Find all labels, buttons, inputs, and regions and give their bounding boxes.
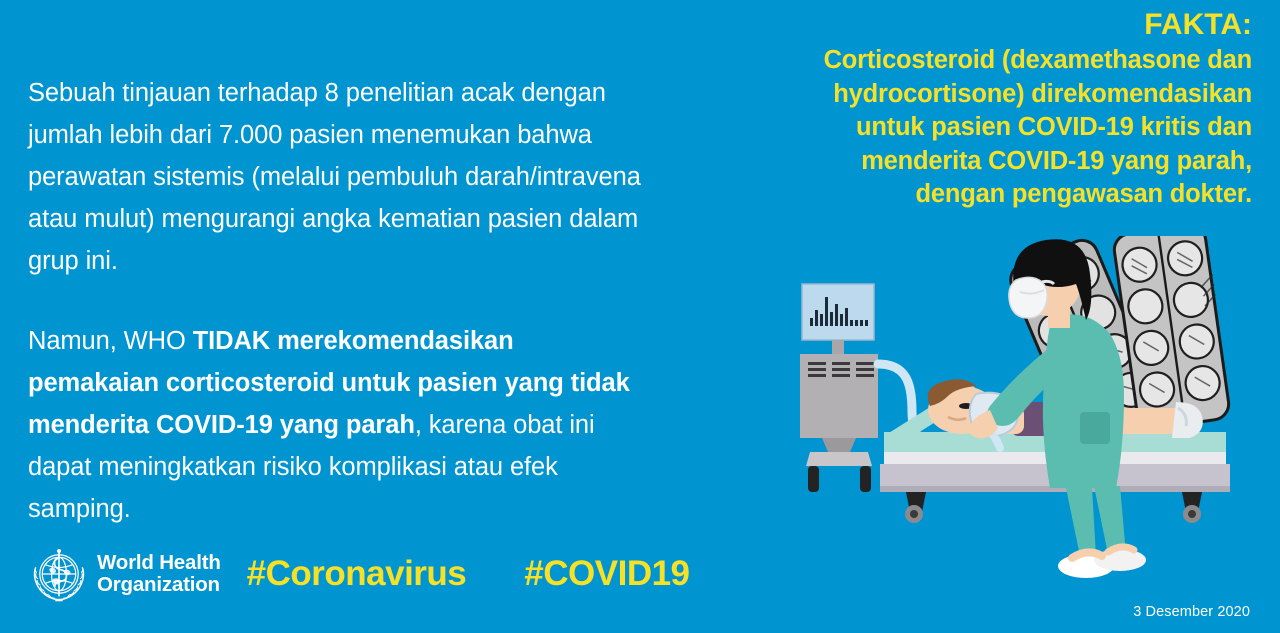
bed-castor-wheels bbox=[905, 492, 1202, 523]
nurse-pocket bbox=[1080, 412, 1110, 444]
face-mask bbox=[1009, 277, 1047, 318]
fact-line-2: hydrocortisone) direkomendasikan bbox=[732, 78, 1252, 112]
fact-line-5: dengan pengawasan dokter. bbox=[732, 178, 1252, 212]
hashtag-coronavirus[interactable]: #Coronavirus bbox=[247, 556, 467, 592]
date-stamp: 3 Desember 2020 bbox=[1133, 604, 1250, 620]
footer-bar: World Health Organization #Coronavirus #… bbox=[28, 543, 690, 605]
medical-scene-illustration bbox=[780, 236, 1280, 596]
body-paragraph-2: Namun, WHO TIDAK merekomendasikan pemaka… bbox=[28, 320, 648, 530]
who-logo: World Health Organization bbox=[28, 543, 221, 605]
hashtag-covid19[interactable]: #COVID19 bbox=[524, 556, 689, 592]
body-text-column: Sebuah tinjauan terhadap 8 penelitian ac… bbox=[28, 72, 648, 530]
who-emblem-icon bbox=[28, 543, 90, 605]
who-wordmark: World Health Organization bbox=[97, 552, 221, 596]
who-covid-infographic: Sebuah tinjauan terhadap 8 penelitian ac… bbox=[0, 0, 1280, 633]
who-wordmark-line1: World Health bbox=[97, 552, 221, 574]
ventilator-machine bbox=[800, 284, 878, 492]
fact-line-4: menderita COVID-19 yang parah, bbox=[732, 145, 1252, 179]
fact-line-1: Corticosteroid (dexamethasone dan bbox=[732, 44, 1252, 78]
body-paragraph-1: Sebuah tinjauan terhadap 8 penelitian ac… bbox=[28, 72, 648, 282]
fact-headline-block: FAKTA: Corticosteroid (dexamethasone dan… bbox=[732, 6, 1252, 212]
fact-label: FAKTA: bbox=[732, 6, 1252, 44]
fact-headline-text: Corticosteroid (dexamethasone dan hydroc… bbox=[732, 44, 1252, 212]
who-wordmark-line2: Organization bbox=[97, 574, 221, 596]
fact-line-3: untuk pasien COVID-19 kritis dan bbox=[732, 111, 1252, 145]
nurse-gown bbox=[1043, 314, 1124, 488]
paragraph-2-lead: Namun, WHO bbox=[28, 327, 193, 355]
